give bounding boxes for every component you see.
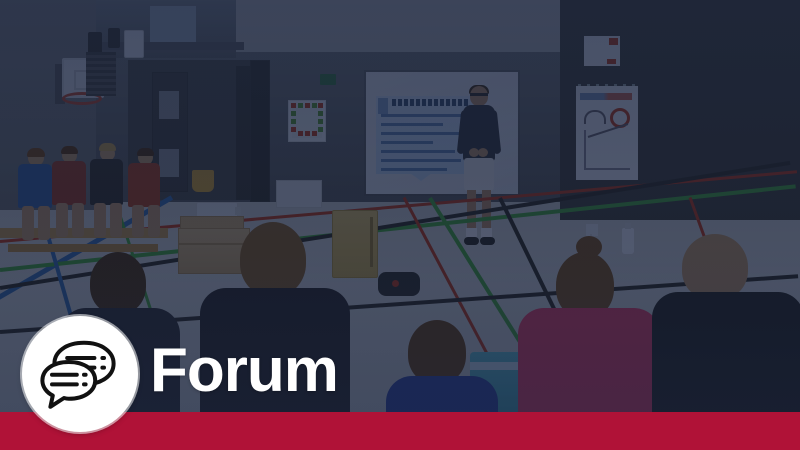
page-title: Forum: [150, 340, 338, 402]
forum-banner: Forum: [0, 0, 800, 450]
speech-bubbles-icon: [40, 338, 120, 410]
forum-badge: [22, 316, 138, 432]
bottom-accent-bar: [0, 412, 800, 450]
